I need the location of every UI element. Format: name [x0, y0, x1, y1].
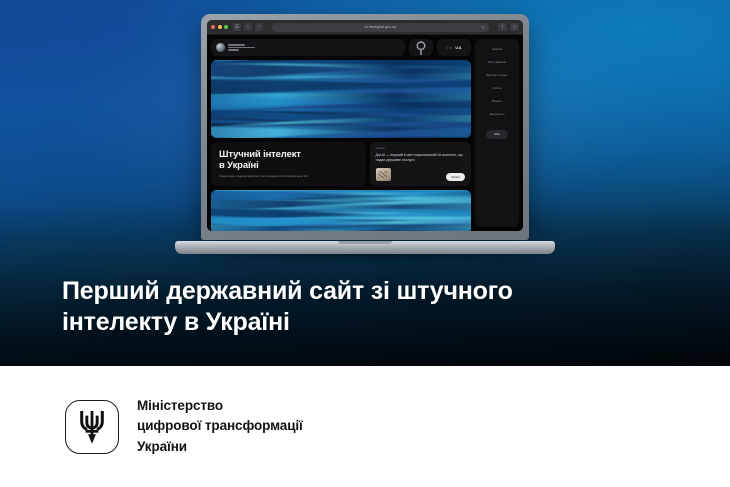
laptop-base [175, 241, 555, 254]
refresh-icon[interactable]: ↻ [482, 25, 485, 30]
window-traffic-lights[interactable] [211, 25, 228, 29]
laptop-mockup: ☰ ‹ › ai.thedigital.gov.ua ↻ ⇪ ◻ [175, 14, 555, 254]
ministry-line-1: Міністерство [137, 396, 303, 417]
ministry-line-2: цифрової трансформації [137, 416, 303, 437]
hero-title: Штучний інтелект в Україні [219, 149, 358, 171]
ukraine-trident-icon [77, 408, 107, 446]
news-card-text: Дія.AI — перший в світі національний AI-… [376, 153, 465, 163]
ministry-line-3: України [137, 437, 303, 458]
close-window-button[interactable] [211, 25, 215, 29]
forward-icon[interactable]: › [255, 23, 263, 31]
nav-item-documents[interactable]: Документи [487, 113, 508, 117]
hero-background: ☰ ‹ › ai.thedigital.gov.ua ↻ ⇪ ◻ [0, 0, 730, 366]
sidebar-toggle-icon[interactable]: ☰ [233, 23, 241, 31]
hero-title-line1: Штучний інтелект [219, 149, 301, 160]
wave-pattern [211, 60, 471, 138]
hero-title-line2: в Україні [219, 160, 259, 171]
headline-line2: інтелекту в Україні [62, 308, 290, 336]
site-emblem-icon [216, 43, 225, 52]
browser-toolbar: ☰ ‹ › ai.thedigital.gov.ua ↻ ⇪ ◻ [207, 20, 523, 35]
search-icon: ⚲ [415, 38, 427, 58]
page-headline: Перший державний сайт зі штучного інтеле… [62, 276, 662, 338]
share-icon[interactable]: ⇪ [498, 23, 507, 31]
back-icon[interactable]: ‹ [244, 23, 252, 31]
news-card-thumbnail [376, 168, 391, 181]
nav-item-challenges[interactable]: Виклики та ідеї [483, 74, 510, 78]
site-logo[interactable] [211, 39, 405, 56]
ministry-logo-badge [65, 400, 119, 454]
nav-item-business[interactable]: Бізнесу [489, 100, 505, 104]
hero-subtitle: Єдине вікно подання ініціатив з регулюва… [219, 175, 358, 179]
minimize-window-button[interactable] [218, 25, 222, 29]
site-header: ⚲ EN UA [211, 39, 471, 56]
lang-option-en[interactable]: EN [446, 45, 452, 50]
ministry-name: Міністерство цифрової трансформації Укра… [137, 396, 303, 458]
nav-item-news[interactable]: Новини [489, 48, 505, 52]
headline-line1: Перший державний сайт зі штучного [62, 277, 513, 305]
hero-title-card: Штучний інтелект в Україні Єдине вікно п… [211, 142, 366, 186]
wave-pattern-bottom [211, 190, 471, 231]
content-cards-row: Штучний інтелект в Україні Єдине вікно п… [211, 142, 471, 186]
tabs-icon[interactable]: ◻ [510, 23, 519, 31]
site-side-navigation: Новини Регулювання Виклики та ідеї Освіт… [475, 39, 519, 227]
webpage-main-column: ⚲ EN UA [211, 39, 471, 227]
language-switcher[interactable]: EN UA [437, 39, 471, 56]
laptop-screen: ☰ ‹ › ai.thedigital.gov.ua ↻ ⇪ ◻ [207, 20, 523, 231]
url-text: ai.thedigital.gov.ua [365, 25, 397, 29]
site-logo-wordmark [228, 44, 255, 51]
nav-item-regulation[interactable]: Регулювання [485, 61, 509, 65]
nav-cta-button[interactable]: Збір [486, 130, 508, 139]
hero-artwork-bottom [211, 190, 471, 231]
nav-item-education[interactable]: Освіта [489, 87, 504, 91]
news-card-button[interactable]: Читати [446, 173, 465, 181]
lang-option-ua[interactable]: UA [455, 45, 461, 50]
hero-artwork-top [211, 60, 471, 138]
maximize-window-button[interactable] [224, 25, 228, 29]
footer: Міністерство цифрової трансформації Укра… [0, 366, 730, 487]
news-card-tag: Новина [376, 147, 465, 150]
laptop-lid: ☰ ‹ › ai.thedigital.gov.ua ↻ ⇪ ◻ [201, 14, 529, 240]
site-search-button[interactable]: ⚲ [409, 39, 433, 56]
webpage-viewport: ⚲ EN UA [207, 35, 523, 231]
address-bar[interactable]: ai.thedigital.gov.ua ↻ [272, 23, 489, 32]
news-card[interactable]: Новина Дія.AI — перший в світі національ… [370, 142, 471, 186]
news-card-footer: Читати [376, 168, 465, 181]
